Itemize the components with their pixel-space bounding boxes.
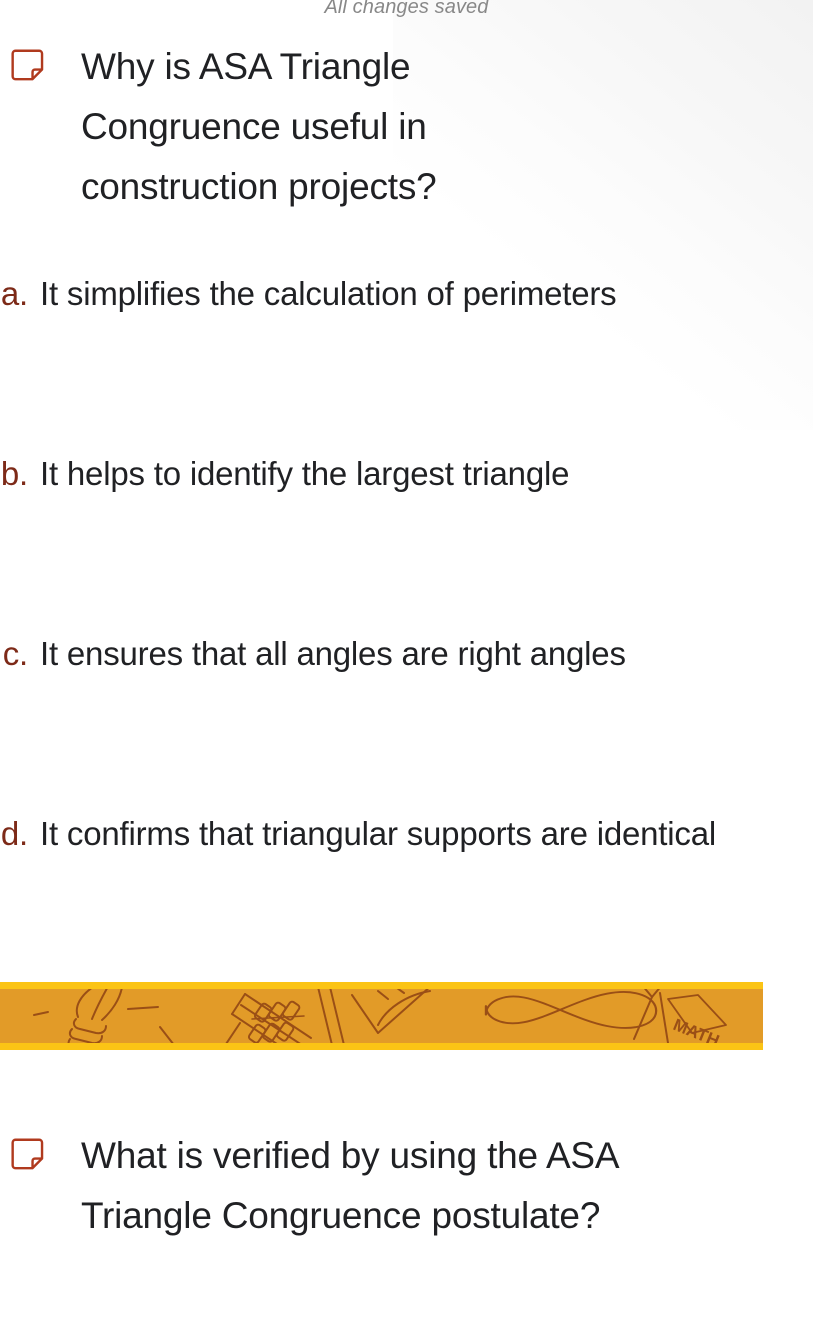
option-d[interactable]: d. It confirms that triangular supports … bbox=[0, 804, 774, 864]
question-title: Why is ASA Triangle Congruence useful in… bbox=[81, 37, 551, 217]
banner-math-label: MATH bbox=[671, 1015, 722, 1043]
option-a-letter: a. bbox=[0, 264, 28, 324]
note-icon bbox=[8, 45, 51, 88]
math-doodle-banner: MATH bbox=[0, 982, 763, 1050]
banner-doodles: MATH bbox=[0, 989, 763, 1043]
option-b[interactable]: b. It helps to identify the largest tria… bbox=[0, 444, 774, 504]
question-block-2: What is verified by using the ASA Triang… bbox=[6, 1126, 766, 1246]
question-block-1: Why is ASA Triangle Congruence useful in… bbox=[6, 37, 766, 217]
quiz-content: All changes saved Why is ASA Triangle Co… bbox=[0, 0, 813, 1325]
note-icon bbox=[8, 1134, 51, 1177]
option-a[interactable]: a. It simplifies the calculation of peri… bbox=[0, 264, 774, 324]
option-b-letter: b. bbox=[0, 444, 28, 504]
question-title: What is verified by using the ASA Triang… bbox=[81, 1126, 641, 1246]
option-d-text: It confirms that triangular supports are… bbox=[40, 804, 720, 864]
option-c-text: It ensures that all angles are right ang… bbox=[40, 624, 720, 684]
option-a-text: It simplifies the calculation of perimet… bbox=[40, 264, 720, 324]
option-c-letter: c. bbox=[0, 624, 28, 684]
option-d-letter: d. bbox=[0, 804, 28, 864]
save-status-text: All changes saved bbox=[0, 0, 813, 19]
option-c[interactable]: c. It ensures that all angles are right … bbox=[0, 624, 774, 684]
option-b-text: It helps to identify the largest triangl… bbox=[40, 444, 720, 504]
